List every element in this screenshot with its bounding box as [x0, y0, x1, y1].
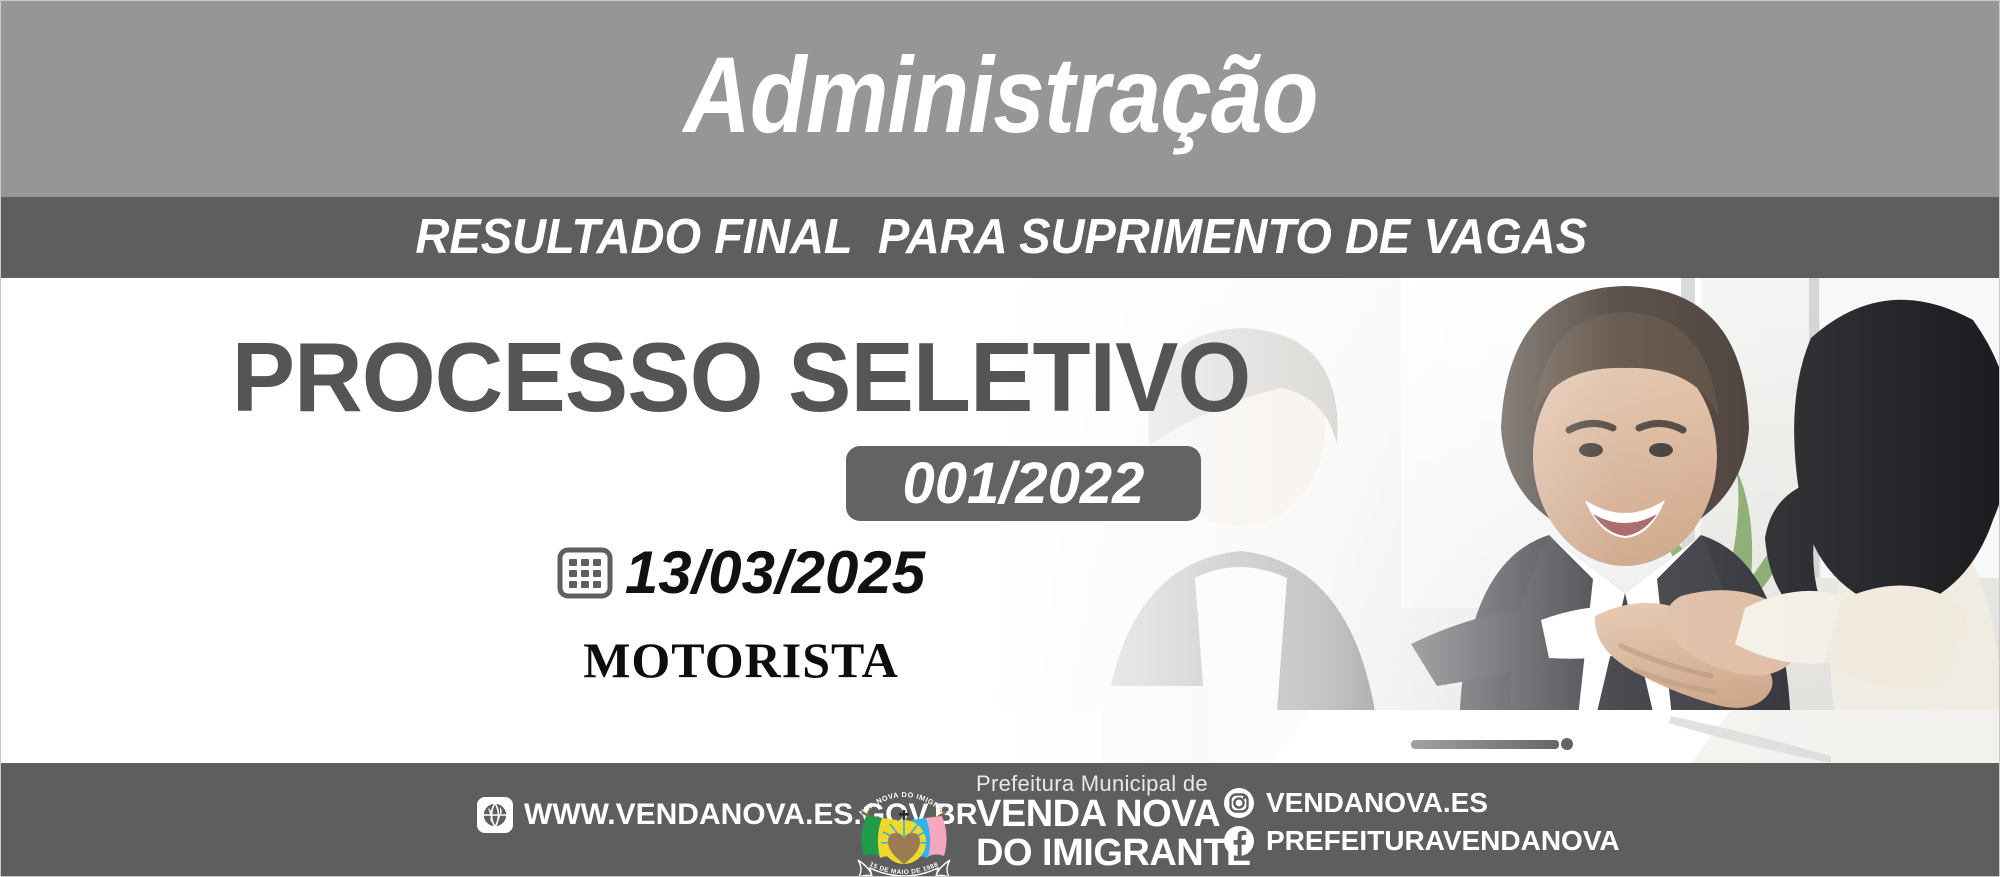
municipality-logo-text: Prefeitura Municipal de VENDA NOVA DO IM…: [976, 769, 1251, 877]
selection-process-banner: Administração RESULTADO FINAL PARA SUPRI…: [0, 0, 2000, 877]
process-number-badge: 001/2022: [846, 446, 1201, 521]
facebook-icon: [1223, 825, 1255, 857]
coat-of-arms-icon: VENDA NOVA DO IMIGRANTE: [846, 780, 962, 877]
department-title: Administração: [684, 41, 1318, 157]
publication-date: 13/03/2025: [625, 543, 925, 603]
logo-prefix: Prefeitura Municipal de: [976, 773, 1251, 795]
municipality-logo: VENDA NOVA DO IMIGRANTE: [846, 769, 1251, 877]
logo-city-line1: VENDA NOVA: [976, 795, 1251, 834]
footer-social: VENDANOVA.ES PREFEITURAVENDANOVA: [1223, 787, 1620, 863]
main-content: PROCESSO SELETIVO 001/2022: [1, 278, 2000, 763]
date-row: 13/03/2025: [1, 543, 1481, 603]
calendar-icon: [557, 545, 613, 601]
footer-facebook[interactable]: PREFEITURAVENDANOVA: [1223, 825, 1620, 857]
footer-instagram[interactable]: VENDANOVA.ES: [1223, 787, 1620, 819]
instagram-handle: VENDANOVA.ES: [1266, 789, 1488, 817]
department-band: Administração: [1, 1, 2000, 197]
banner-subtitle: RESULTADO FINAL PARA SUPRIMENTO DE VAGAS: [415, 213, 1587, 262]
page-title: PROCESSO SELETIVO: [23, 328, 1459, 426]
facebook-handle: PREFEITURAVENDANOVA: [1266, 827, 1620, 855]
svg-text:VENDA NOVA DO IMIGRANTE: VENDA NOVA DO IMIGRANTE: [846, 780, 946, 817]
instagram-icon: [1223, 787, 1255, 819]
process-number-text: 001/2022: [903, 455, 1145, 513]
globe-icon: [477, 797, 513, 833]
subtitle-band: RESULTADO FINAL PARA SUPRIMENTO DE VAGAS: [1, 197, 2000, 278]
footer-bar: WWW.VENDANOVA.ES.GOV.BR VENDA NOVA DO IM…: [1, 763, 2000, 877]
job-role: MOTORISTA: [1, 635, 1481, 685]
logo-city-line2: DO IMIGRANTE: [976, 834, 1251, 873]
